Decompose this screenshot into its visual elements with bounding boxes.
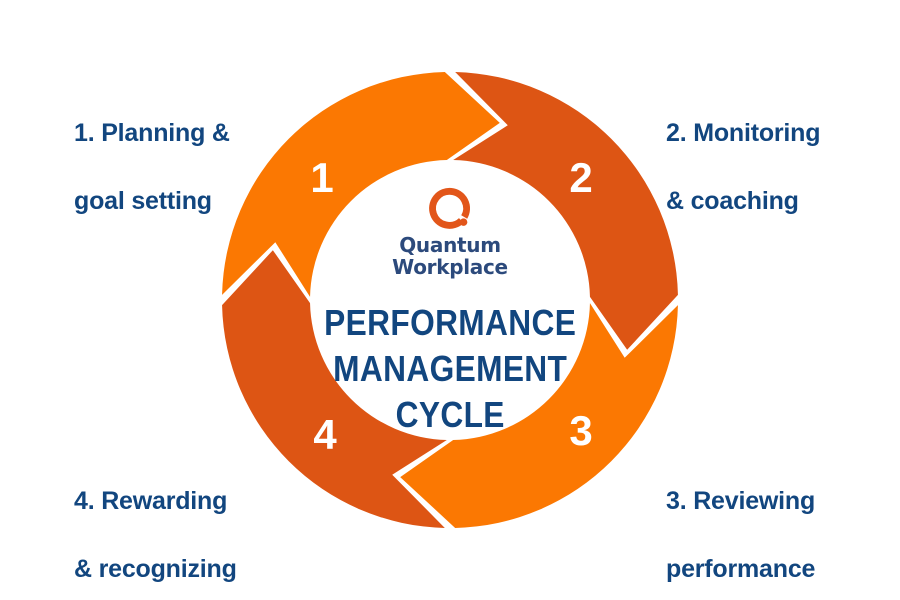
cycle-title: PERFORMANCE MANAGEMENT CYCLE <box>324 300 576 437</box>
segment-label-4-line2: & recognizing <box>74 552 237 586</box>
segment-label-4-line1: 4. Rewarding <box>74 484 237 518</box>
segment-label-1-line2: goal setting <box>74 184 230 218</box>
segment-label-3: 3. Reviewing performance <box>666 450 815 600</box>
segment-label-1-line1: 1. Planning & <box>74 116 230 150</box>
cycle-title-line2: MANAGEMENT <box>324 346 576 392</box>
cycle-title-line3: CYCLE <box>324 392 576 438</box>
segment-label-3-line1: 3. Reviewing <box>666 484 815 518</box>
center-content: Quantum Workplace PERFORMANCE MANAGEMENT… <box>310 186 590 437</box>
infographic-canvas: 1 2 3 4 1. Planning & goal setting 2. Mo… <box>0 0 900 600</box>
segment-label-3-line2: performance <box>666 552 815 586</box>
segment-label-2: 2. Monitoring & coaching <box>666 82 820 252</box>
brand-name-line1: Quantum <box>399 233 501 257</box>
segment-label-2-line2: & coaching <box>666 184 820 218</box>
cycle-title-line1: PERFORMANCE <box>324 300 576 346</box>
segment-label-1: 1. Planning & goal setting <box>74 82 230 252</box>
segment-label-2-line1: 2. Monitoring <box>666 116 820 150</box>
quantum-q-mark-icon <box>427 186 473 232</box>
segment-label-4: 4. Rewarding & recognizing achievements <box>74 450 237 600</box>
brand-name-line2: Workplace <box>392 257 508 279</box>
brand-wordmark: Quantum Workplace <box>392 235 508 278</box>
